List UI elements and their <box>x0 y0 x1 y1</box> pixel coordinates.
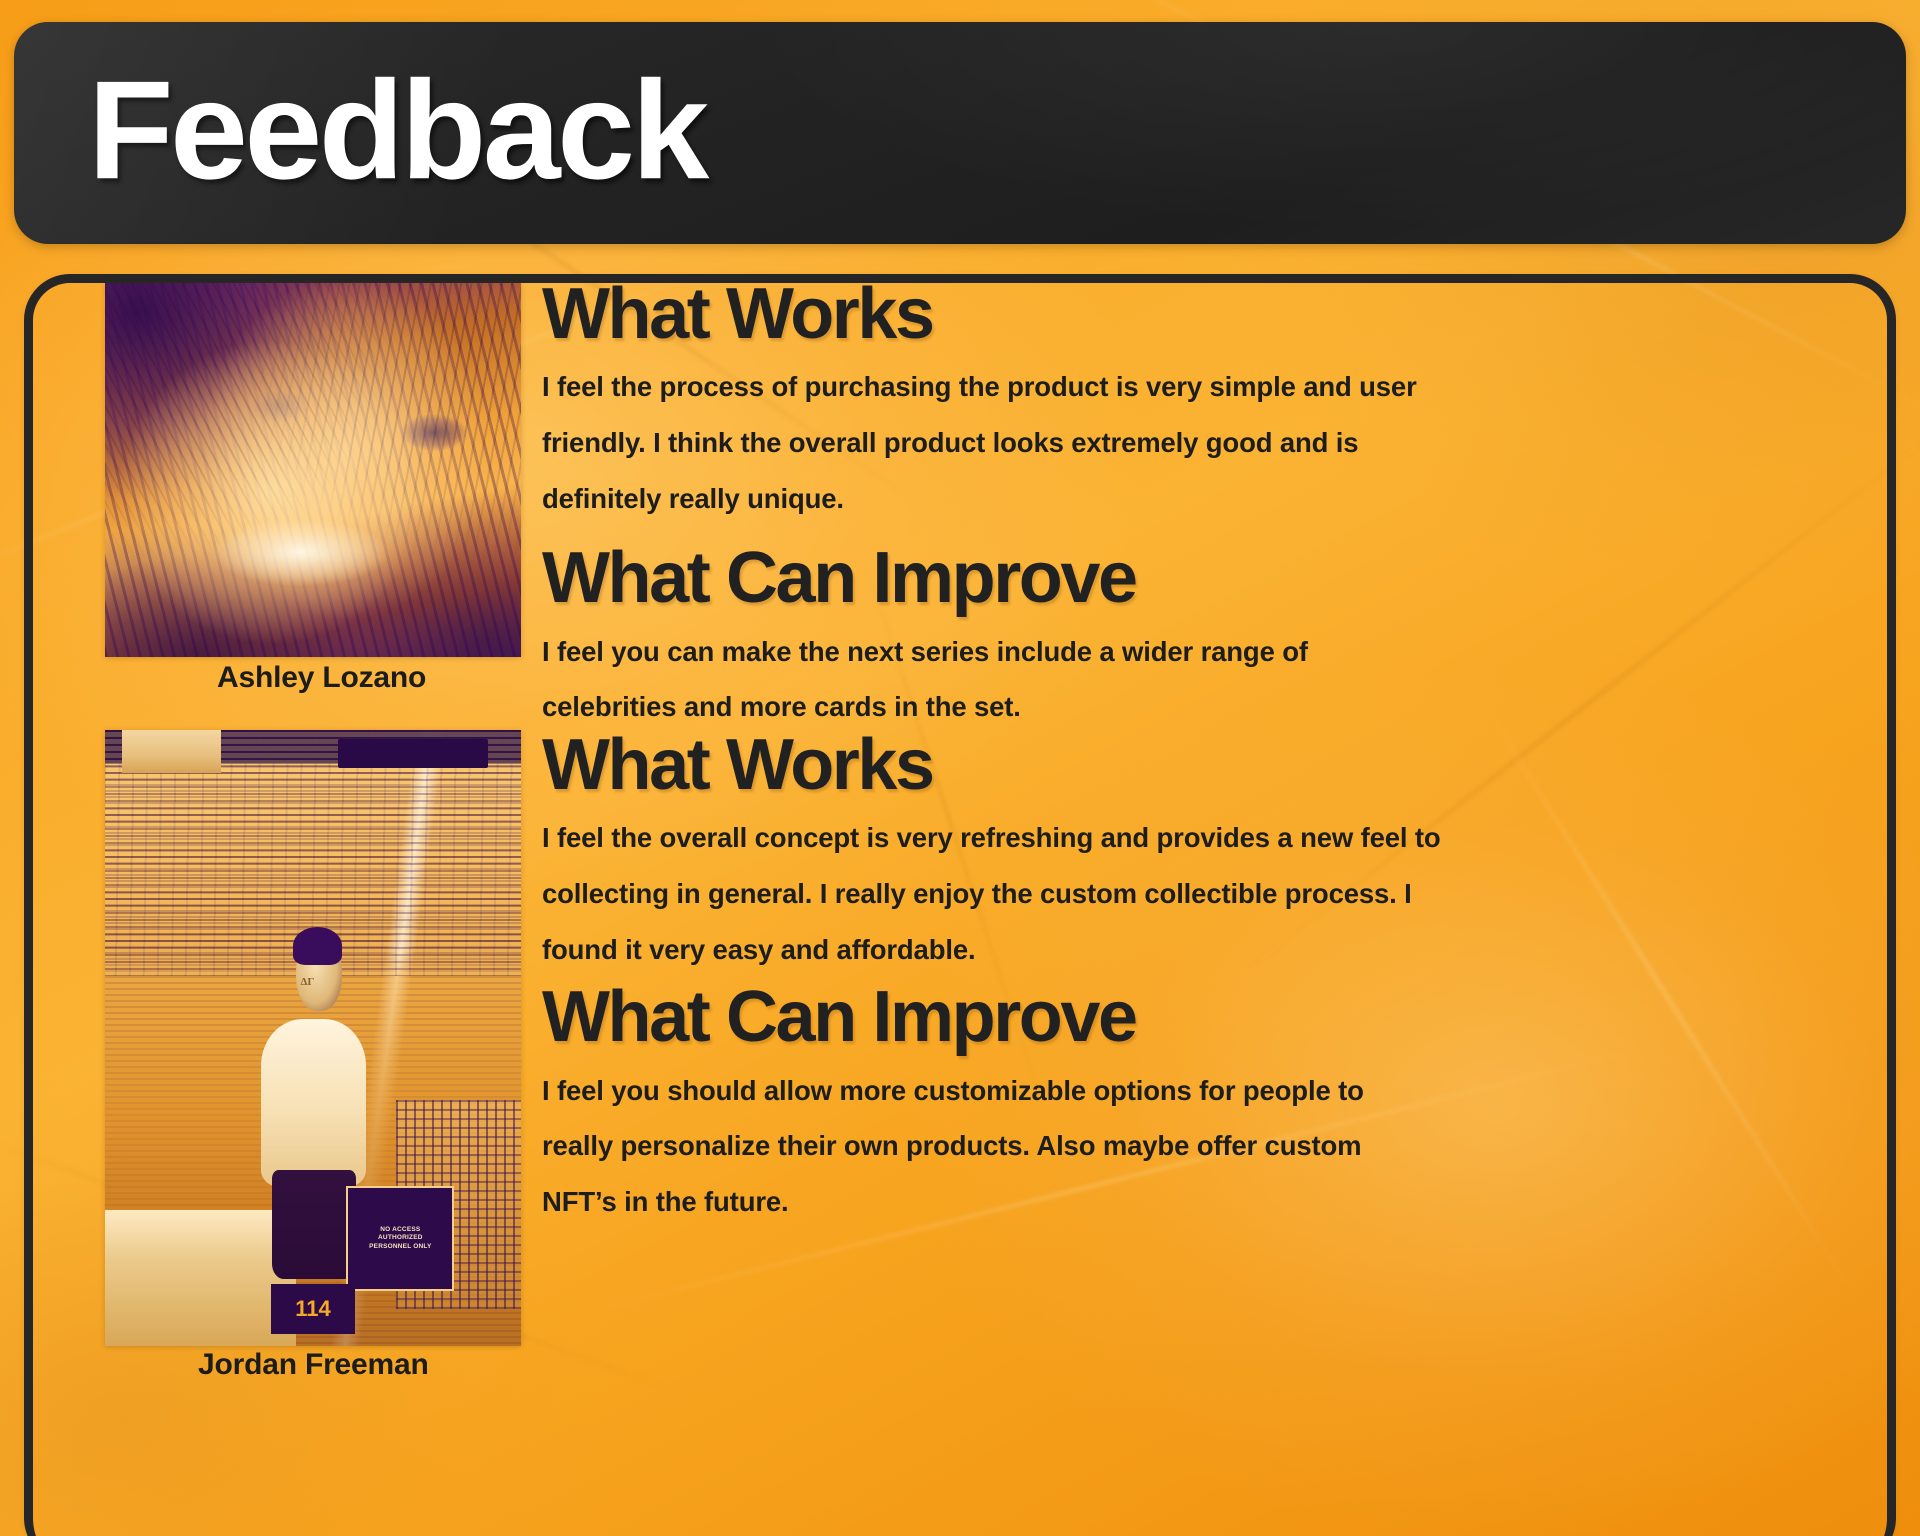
text-column-jordan: What Works I feel the overall concept is… <box>542 729 1502 1229</box>
photo-caption-jordan: Jordan Freeman <box>198 1348 538 1382</box>
sign-line-3: PERSONNEL ONLY <box>369 1243 431 1250</box>
title-bar: Feedback <box>14 22 1906 244</box>
sign-line-1: NO ACCESS <box>380 1226 420 1233</box>
seat-number-text: 114 <box>295 1296 331 1322</box>
section-heading-what-can-improve-1: What Can Improve <box>542 542 1486 615</box>
text-column-ashley: What Works I feel the process of purchas… <box>542 274 1486 735</box>
avatar-photo-jordan-freeman: ΔΓ NO ACCESS AUTHORIZED PERSONNEL ONLY 1… <box>105 730 521 1346</box>
press-box <box>122 730 222 773</box>
feedback-block-jordan: ΔΓ NO ACCESS AUTHORIZED PERSONNEL ONLY 1… <box>24 729 1896 1379</box>
sign-line-2: AUTHORIZED <box>378 1234 423 1241</box>
section-heading-what-works-2: What Works <box>542 729 1502 802</box>
feedback-content: Ashley Lozano What Works I feel the proc… <box>24 274 1896 1536</box>
section-heading-what-works-1: What Works <box>542 278 1486 351</box>
greek-letters-label: ΔΓ <box>301 976 315 988</box>
no-access-sign: NO ACCESS AUTHORIZED PERSONNEL ONLY <box>346 1186 454 1291</box>
seat-number-marker: 114 <box>271 1284 354 1333</box>
section-heading-what-can-improve-2: What Can Improve <box>542 981 1502 1054</box>
section-body-what-works-2: I feel the overall concept is very refre… <box>542 810 1488 977</box>
scoreboard <box>338 739 488 767</box>
section-body-what-can-improve-2: I feel you should allow more customizabl… <box>542 1063 1442 1230</box>
section-body-what-can-improve-1: I feel you can make the next series incl… <box>542 624 1442 735</box>
page-title: Feedback <box>88 60 706 200</box>
photo-caption-ashley: Ashley Lozano <box>217 661 537 695</box>
avatar-photo-ashley-lozano <box>105 283 521 657</box>
slide-canvas: Feedback Ashley Lozano What Works I feel… <box>0 0 1920 1536</box>
section-body-what-works-1: I feel the process of purchasing the pro… <box>542 359 1470 526</box>
